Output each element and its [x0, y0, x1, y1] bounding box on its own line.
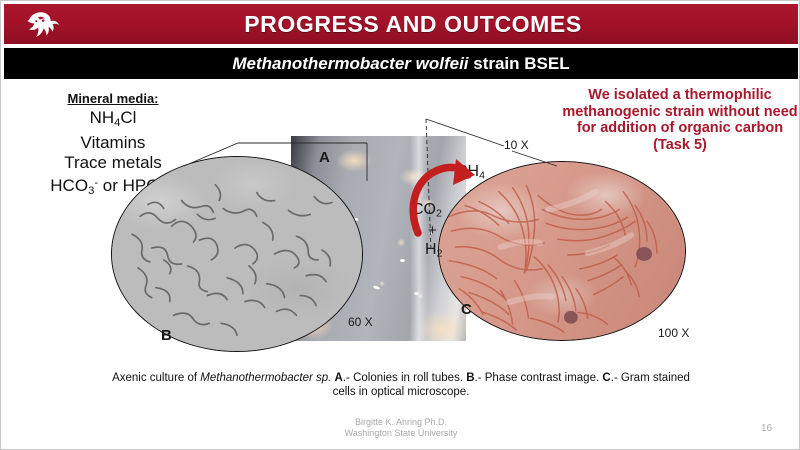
panel-b-cell-filaments	[112, 157, 362, 351]
page-title: PROGRESS AND OUTCOMES	[4, 4, 798, 44]
reaction-plus-sign: +	[428, 222, 437, 239]
colony-speck	[400, 259, 405, 262]
panel-c-cell-filaments	[439, 162, 685, 340]
panel-c-label: C	[461, 301, 472, 318]
slide-title-bar: PROGRESS AND OUTCOMES	[4, 4, 798, 44]
colony-speck	[414, 292, 419, 295]
mineral-media-title: Mineral media:	[15, 91, 211, 106]
panel-b-label: B	[161, 327, 172, 344]
reaction-substrate-h2: H2	[425, 241, 442, 260]
figure-caption: Axenic culture of Methanothermobacter sp…	[101, 371, 701, 399]
slide-footer: Birgitte K. Ahring Ph.D. Washington Stat…	[1, 417, 800, 439]
reaction-product-ch4: CH4	[456, 163, 485, 182]
species-name: Methanothermobacter wolfeii	[232, 54, 468, 73]
tube-glare	[410, 136, 428, 341]
footer-institution: Washington State University	[1, 428, 800, 439]
key-finding-callout: We isolated a thermophilic methanogenic …	[561, 87, 799, 153]
reaction-substrate-co2: CO2	[412, 201, 442, 220]
panel-c-magnification: 100 X	[658, 326, 689, 340]
panel-a-magnification: 10 X	[504, 138, 529, 152]
subtitle-text: Methanothermobacter wolfeii strain BSEL	[232, 54, 569, 74]
mineral-media-item-nh4cl: NH4Cl	[15, 108, 211, 133]
mineral-media-item-vitamins: Vitamins	[15, 133, 211, 153]
slide-number: 16	[761, 423, 772, 434]
panel-b-phase-contrast	[111, 156, 363, 352]
footer-presenter: Birgitte K. Ahring Ph.D.	[1, 417, 800, 428]
colony-speck	[373, 285, 381, 290]
presentation-slide: PROGRESS AND OUTCOMES Methanothermobacte…	[0, 0, 800, 450]
strain-name: strain BSEL	[469, 54, 570, 73]
panel-b-magnification: 60 X	[348, 315, 373, 329]
wsu-cougar-logo	[24, 9, 64, 41]
slide-subtitle-bar: Methanothermobacter wolfeii strain BSEL	[4, 48, 798, 79]
panel-c-gram-stain	[438, 161, 686, 341]
